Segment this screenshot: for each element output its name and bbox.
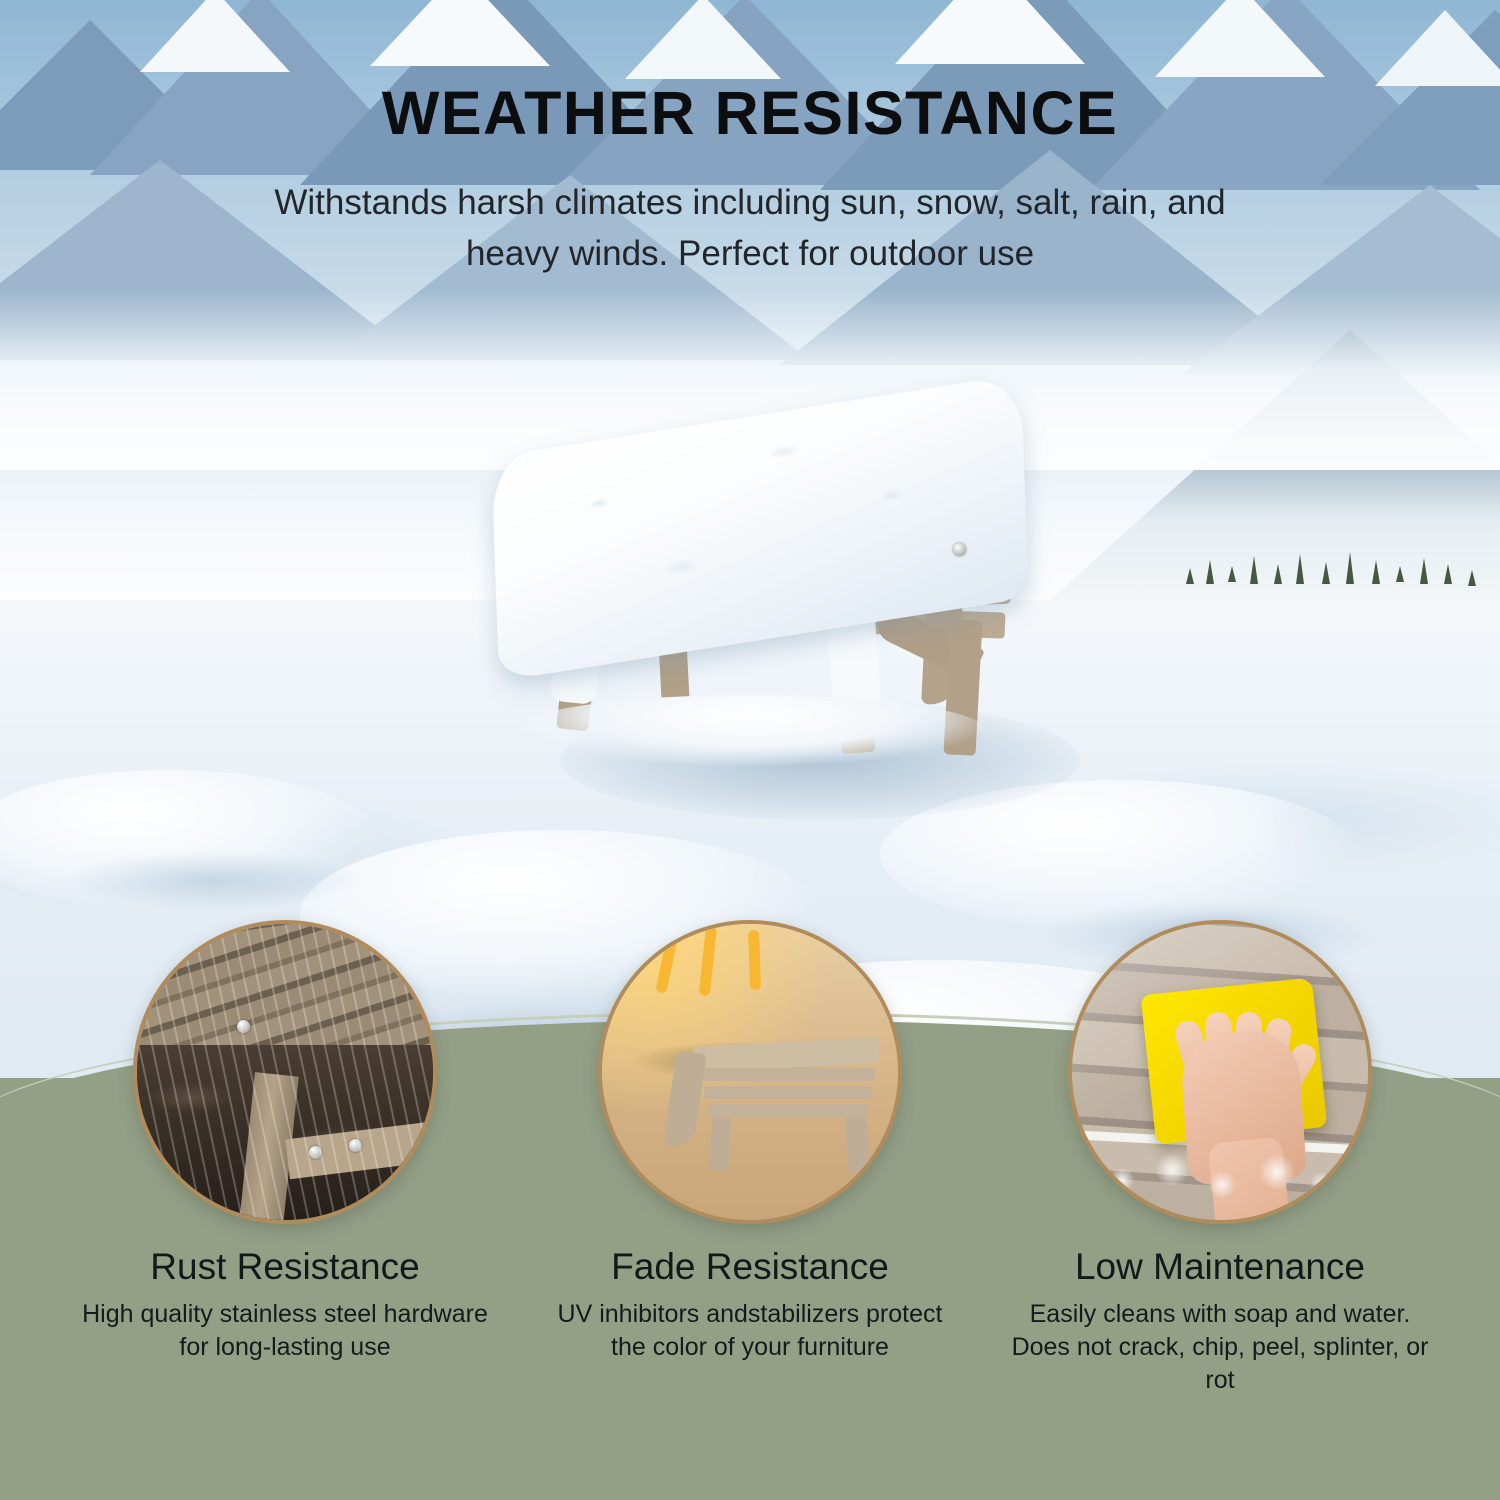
feature-description: UV inhibitors andstabilizers protect the… xyxy=(540,1298,960,1364)
feature-description: Easily cleans with soap and water. Does … xyxy=(1010,1298,1430,1397)
feature-title: Low Maintenance xyxy=(1010,1246,1430,1288)
feature-image-rust-resistance xyxy=(133,920,437,1224)
feature-fade-resistance: Fade Resistance UV inhibitors andstabili… xyxy=(540,920,960,1364)
feature-rust-resistance: Rust Resistance High quality stainless s… xyxy=(75,920,495,1364)
soap-suds xyxy=(1102,1140,1342,1210)
rain-droplets-icon xyxy=(137,924,433,1220)
feature-title: Rust Resistance xyxy=(75,1246,495,1288)
feature-low-maintenance: Low Maintenance Easily cleans with soap … xyxy=(1010,920,1430,1397)
product-feature-image: WEATHER RESISTANCE Withstands harsh clim… xyxy=(0,0,1500,1500)
page-subtitle: Withstands harsh climates including sun,… xyxy=(250,178,1250,280)
feature-image-low-maintenance xyxy=(1068,920,1372,1224)
feature-image-fade-resistance xyxy=(598,920,902,1224)
feature-title: Fade Resistance xyxy=(540,1246,960,1288)
feature-description: High quality stainless steel hardware fo… xyxy=(75,1298,495,1364)
stainless-bolt-icon xyxy=(953,543,966,556)
snow-covered-footrest xyxy=(455,395,1075,785)
page-title: WEATHER RESISTANCE xyxy=(0,78,1500,148)
chair-in-sunlight xyxy=(660,1042,875,1172)
